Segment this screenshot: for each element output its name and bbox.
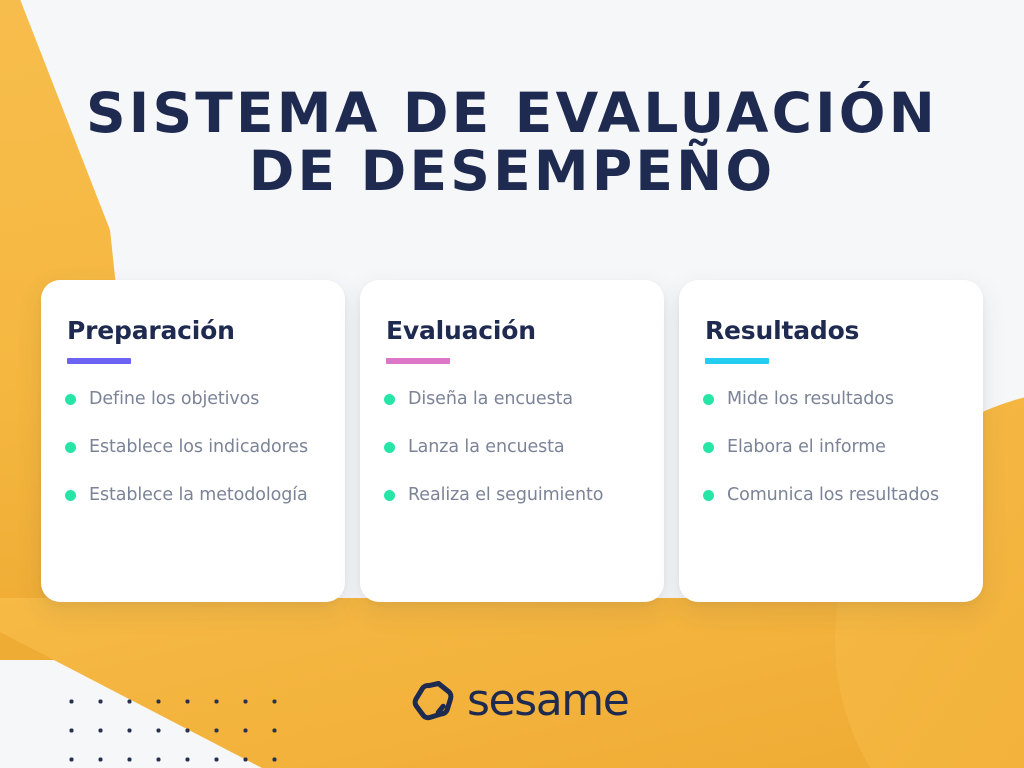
bullet-dot-icon [65,394,76,405]
bullet-dot-icon [703,394,714,405]
list-item: Establece los indicadores [65,436,319,458]
bullet-dot-icon [65,490,76,501]
bullet-dot-icon [384,394,395,405]
list-item: Elabora el informe [703,436,957,458]
card-row: Preparación Define los objetivos Estable… [41,280,983,602]
bullet-dot-icon [384,442,395,453]
list-item: Define los objetivos [65,388,319,410]
card-resultados[interactable]: Resultados Mide los resultados Elabora e… [679,280,983,602]
list-item-label: Establece la metodología [89,484,308,506]
card-item-list: Define los objetivos Establece los indic… [65,388,319,506]
card-title: Evaluación [386,316,638,346]
sesame-heptagon-icon [408,677,456,725]
brand-wordmark: sesame [467,679,628,723]
list-item: Lanza la encuesta [384,436,638,458]
card-accent-rule [705,358,769,364]
list-item-label: Establece los indicadores [89,436,308,458]
dot-grid-pattern [54,684,282,768]
list-item: Realiza el seguimiento [384,484,638,506]
card-title: Resultados [705,316,957,346]
bullet-dot-icon [703,490,714,501]
list-item: Comunica los resultados [703,484,957,506]
card-accent-rule [386,358,450,364]
list-item-label: Comunica los resultados [727,484,939,506]
bullet-dot-icon [65,442,76,453]
card-accent-rule [67,358,131,364]
list-item-label: Define los objetivos [89,388,259,410]
list-item: Mide los resultados [703,388,957,410]
bullet-dot-icon [703,442,714,453]
card-evaluacion[interactable]: Evaluación Diseña la encuesta Lanza la e… [360,280,664,602]
list-item-label: Lanza la encuesta [408,436,565,458]
bullet-dot-icon [384,490,395,501]
list-item-label: Elabora el informe [727,436,886,458]
list-item-label: Realiza el seguimiento [408,484,603,506]
list-item: Diseña la encuesta [384,388,638,410]
list-item-label: Mide los resultados [727,388,894,410]
card-item-list: Mide los resultados Elabora el informe C… [703,388,957,506]
brand-logo: sesame [408,677,628,725]
list-item: Establece la metodología [65,484,319,506]
list-item-label: Diseña la encuesta [408,388,573,410]
infographic-canvas: SISTEMA DE EVALUACIÓN DE DESEMPEÑO Prepa… [0,0,1024,768]
page-title: SISTEMA DE EVALUACIÓN DE DESEMPEÑO [0,84,1024,200]
card-preparacion[interactable]: Preparación Define los objetivos Estable… [41,280,345,602]
title-line-1: SISTEMA DE EVALUACIÓN [0,84,1024,142]
card-title: Preparación [67,316,319,346]
card-item-list: Diseña la encuesta Lanza la encuesta Rea… [384,388,638,506]
title-line-2: DE DESEMPEÑO [0,142,1024,200]
